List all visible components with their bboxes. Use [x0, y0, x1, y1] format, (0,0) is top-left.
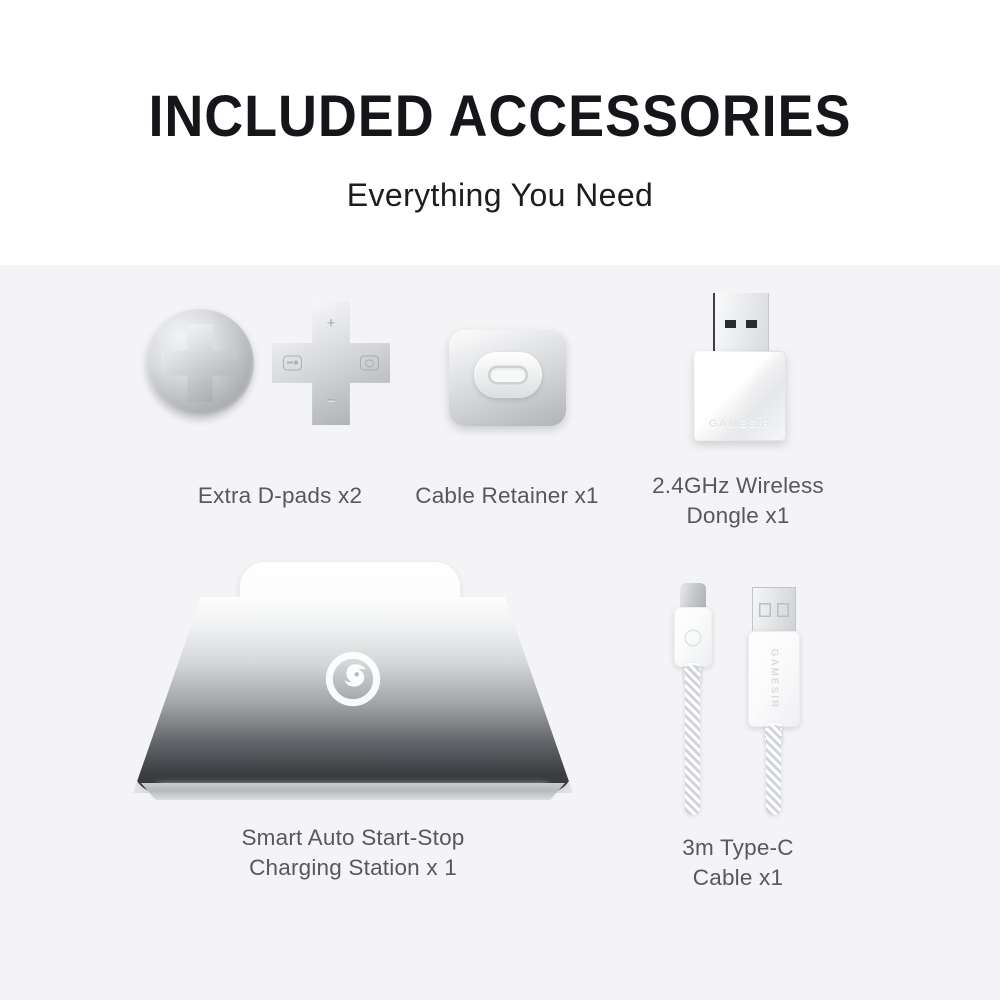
- accessory-caption: Cable Retainer x1: [392, 481, 622, 511]
- cable-braid-right: [766, 725, 781, 815]
- gamesir-brand-text: GAMESIR: [694, 418, 786, 430]
- usb-a-connector-housing: GAMESIR: [748, 631, 800, 727]
- accessories-infographic: INCLUDED ACCESSORIES Everything You Need…: [0, 0, 1000, 1000]
- accessory-wireless-dongle: GAMESIR 2.4GHz Wireless Dongle x1: [618, 283, 858, 513]
- cable-retainer-icon: [449, 330, 566, 426]
- usb-c-connector-housing: [674, 607, 712, 667]
- accessory-extra-d-pads: + − Extra D-pads x2: [130, 293, 430, 473]
- screenshot-glyph-icon: [283, 356, 302, 371]
- cable-braid-left: [685, 665, 700, 815]
- plus-mark: +: [327, 316, 336, 331]
- d-pad-cross-icon: + −: [272, 301, 390, 425]
- retainer-hole-inner: [488, 366, 528, 385]
- d-pad-round-cross: [161, 324, 239, 402]
- capture-glyph-icon: [360, 356, 379, 371]
- page-subtitle: Everything You Need: [347, 179, 654, 211]
- accessory-cable-retainer: Cable Retainer x1: [392, 293, 622, 473]
- usb-c-logo-icon: [685, 630, 702, 647]
- header-section: INCLUDED ACCESSORIES Everything You Need: [0, 0, 1000, 265]
- d-pad-icon: + −: [130, 293, 395, 453]
- station-base: [141, 783, 565, 800]
- accessory-caption: 2.4GHz Wireless Dongle x1: [618, 471, 858, 531]
- usb-a-connector-tip: [713, 293, 769, 355]
- dongle-shell: GAMESIR: [694, 351, 786, 441]
- accessories-grid: + − Extra D-pads x2 Cable Retainer x1: [0, 265, 1000, 1000]
- accessory-type-c-cable: GAMESIR 3m Type-C Cable x1: [620, 565, 856, 935]
- usb-a-connector-tip: [752, 587, 796, 635]
- accessory-caption: Extra D-pads x2: [130, 481, 430, 511]
- accessory-caption: 3m Type-C Cable x1: [620, 833, 856, 893]
- charging-station-icon: [133, 561, 573, 811]
- page-title: INCLUDED ACCESSORIES: [149, 88, 852, 146]
- gamesir-brand-text: GAMESIR: [769, 649, 780, 710]
- minus-mark: −: [327, 393, 336, 408]
- d-pad-round-icon: [146, 309, 254, 417]
- gamesir-logo-icon: [323, 649, 383, 709]
- accessory-caption: Smart Auto Start-Stop Charging Station x…: [80, 823, 626, 883]
- accessory-charging-station: Smart Auto Start-Stop Charging Station x…: [80, 555, 626, 935]
- usb-dongle-icon: GAMESIR: [690, 293, 790, 441]
- retainer-hole-outer: [474, 352, 542, 398]
- usb-cable-icon: GAMESIR: [662, 583, 812, 815]
